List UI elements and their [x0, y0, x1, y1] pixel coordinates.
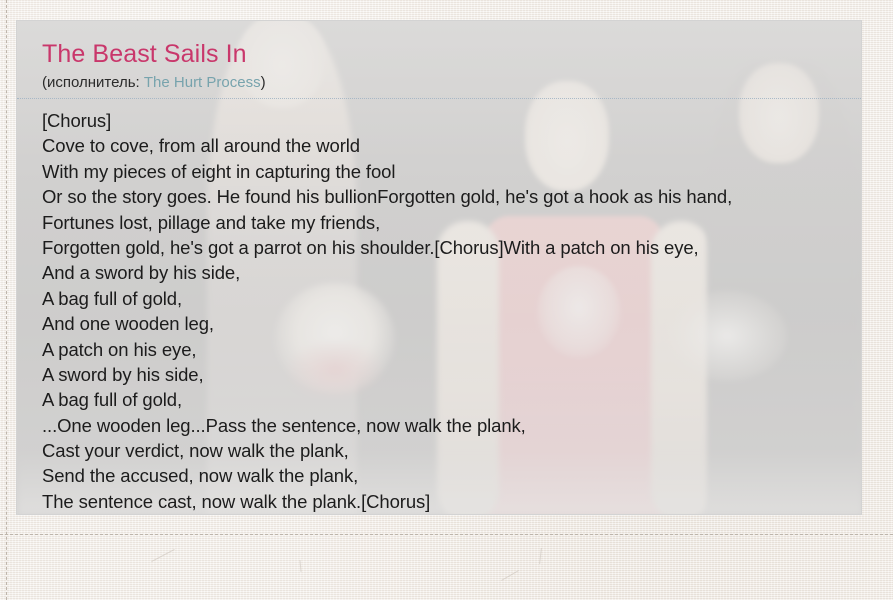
lyric-line: ...One wooden leg...Pass the sentence, n… — [42, 413, 861, 438]
lyric-line: With my pieces of eight in capturing the… — [42, 159, 861, 184]
header-separator — [17, 98, 861, 99]
paper-scratch — [151, 549, 174, 562]
lyric-line: Forgotten gold, he's got a parrot on his… — [42, 235, 861, 260]
lyric-line: Fortunes lost, pillage and take my frien… — [42, 210, 861, 235]
artist-prefix-label: (исполнитель: — [42, 74, 144, 91]
lyrics-card: The Beast Sails In (исполнитель: The Hur… — [16, 20, 862, 515]
lyric-line: A sword by his side, — [42, 362, 861, 387]
lyric-line: Send the accused, now walk the plank, — [42, 463, 861, 488]
lyric-line: Or so the story goes. He found his bulli… — [42, 184, 861, 209]
paper-scratch — [299, 560, 301, 572]
lyric-line: A patch on his eye, — [42, 337, 861, 362]
lyric-line: The sentence cast, now walk the plank.[C… — [42, 489, 861, 514]
artist-link[interactable]: The Hurt Process — [144, 74, 261, 91]
artist-line: (исполнитель: The Hurt Process) — [42, 72, 861, 94]
page-horizontal-rule — [0, 534, 893, 535]
lyric-line: A bag full of gold, — [42, 387, 861, 412]
lyric-line: And one wooden leg, — [42, 311, 861, 336]
paper-scratch — [501, 570, 519, 581]
page-title: The Beast Sails In — [42, 39, 861, 69]
lyric-line: [Chorus] — [42, 108, 861, 133]
paper-scratch — [539, 548, 542, 564]
lyric-line: And a sword by his side, — [42, 260, 861, 285]
card-content: The Beast Sails In (исполнитель: The Hur… — [17, 21, 861, 514]
lyrics-body: [Chorus]Cove to cove, from all around th… — [42, 108, 861, 514]
lyric-line: Cast your verdict, now walk the plank, — [42, 438, 861, 463]
page-left-margin-rule — [6, 0, 7, 600]
lyric-line: A bag full of gold, — [42, 286, 861, 311]
lyric-line: Cove to cove, from all around the world — [42, 133, 861, 158]
artist-suffix-label: ) — [261, 74, 266, 91]
